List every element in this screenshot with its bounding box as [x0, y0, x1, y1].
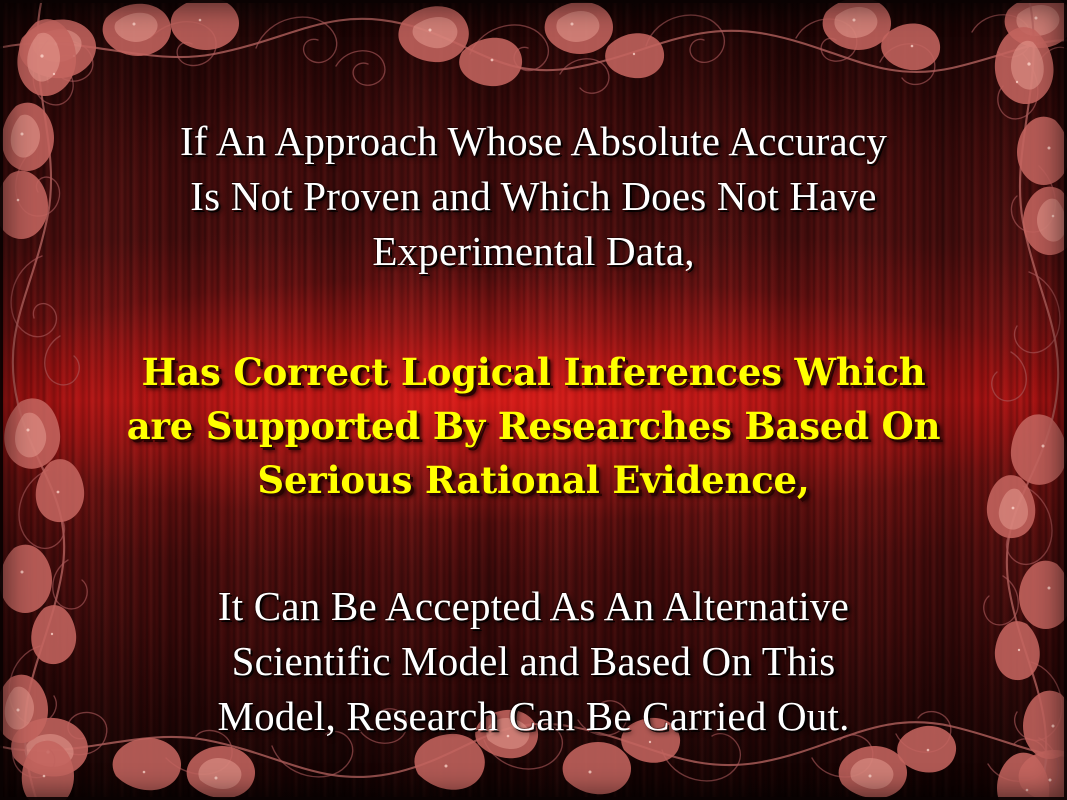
paragraph-condition: If An Approach Whose Absolute Accuracy I…	[0, 114, 1067, 279]
paragraph-conclusion: It Can Be Accepted As An Alternative Sci…	[0, 579, 1067, 744]
slide-content: If An Approach Whose Absolute Accuracy I…	[0, 0, 1067, 800]
paragraph-qualifier-line-2: are Supported By Researches Based On	[0, 399, 1067, 453]
paragraph-conclusion-line-2: Scientific Model and Based On This	[0, 634, 1067, 689]
paragraph-qualifier-line-3: Serious Rational Evidence,	[0, 453, 1067, 507]
paragraph-qualifier-line-1: Has Correct Logical Inferences Which	[0, 345, 1067, 399]
paragraph-conclusion-line-1: It Can Be Accepted As An Alternative	[0, 579, 1067, 634]
presentation-slide: If An Approach Whose Absolute Accuracy I…	[0, 0, 1067, 800]
paragraph-condition-line-2: Is Not Proven and Which Does Not Have	[0, 169, 1067, 224]
paragraph-conclusion-line-3: Model, Research Can Be Carried Out.	[0, 689, 1067, 744]
paragraph-condition-line-3: Experimental Data,	[0, 224, 1067, 279]
paragraph-qualifier-emphasis: Has Correct Logical Inferences Which are…	[0, 345, 1067, 507]
paragraph-condition-line-1: If An Approach Whose Absolute Accuracy	[0, 114, 1067, 169]
